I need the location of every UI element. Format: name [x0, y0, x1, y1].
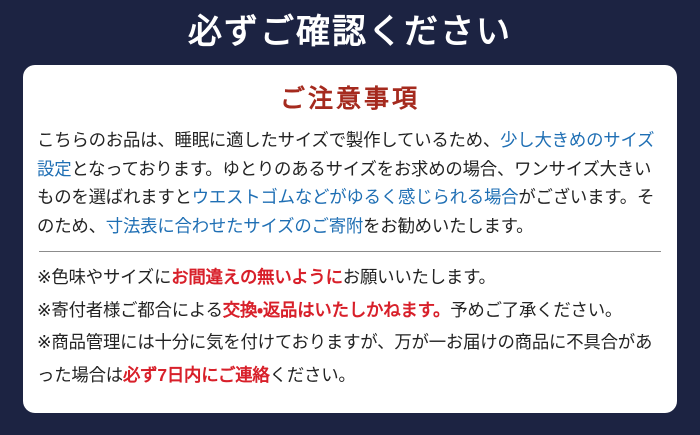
note-item-3: ※商品管理には十分に気を付けておりますが、万が一お届けの商品に不具合があった場合… [37, 326, 663, 391]
page-title: 必ずご確認ください [0, 8, 700, 56]
note-2-seg-3: 予めご了承ください。 [450, 300, 622, 320]
note-item-1: ※色味やサイズにお間違えの無いようにお願いいたします。 [37, 261, 663, 294]
notice-page: 必ずご確認ください ご注意事項 こちらのお品は、睡眠に適したサイズで製作している… [0, 0, 700, 435]
note-3-seg-3: ください。 [270, 365, 356, 385]
panel-heading: ご注意事項 [23, 82, 677, 116]
note-2-marker: ※ [37, 300, 51, 320]
note-2-seg-2-highlight: 交換・返品はいたしかねます。 [223, 300, 450, 320]
note-2-seg-1: 寄付者様ご都合による [51, 300, 222, 320]
note-1-seg-1: 色味やサイズに [51, 267, 171, 287]
note-3-seg-2-highlight: 必ず7日内にご連絡 [123, 365, 270, 385]
notice-paragraph: こちらのお品は、睡眠に適したサイズで製作しているため、少し大きめのサイズ設定とな… [37, 126, 663, 240]
notice-seg-6-highlight: 寸法表に合わせたサイズのご寄附 [106, 216, 363, 236]
notice-seg-1: こちらのお品は、睡眠に適したサイズで製作しているため、 [37, 130, 500, 150]
notice-panel: ご注意事項 こちらのお品は、睡眠に適したサイズで製作しているため、少し大きめのサ… [23, 65, 677, 413]
note-1-seg-3: お願いいたします。 [343, 267, 496, 287]
notice-seg-4-highlight: ウエストゴムなどがゆるく感じられる場合 [192, 187, 519, 207]
note-item-2: ※寄付者様ご都合による交換・返品はいたしかねます。予めご了承ください。 [37, 294, 663, 327]
note-1-marker: ※ [37, 267, 51, 287]
note-1-seg-2-highlight: お間違えの無いように [171, 267, 343, 287]
notes-list: ※色味やサイズにお間違えの無いようにお願いいたします。 ※寄付者様ご都合による交… [37, 261, 663, 391]
notice-seg-7: をお勧めいたします。 [363, 216, 533, 236]
note-3-marker: ※ [37, 332, 51, 352]
section-divider [39, 251, 661, 252]
notice-paragraph-text: こちらのお品は、睡眠に適したサイズで製作しているため、少し大きめのサイズ設定とな… [37, 126, 663, 240]
